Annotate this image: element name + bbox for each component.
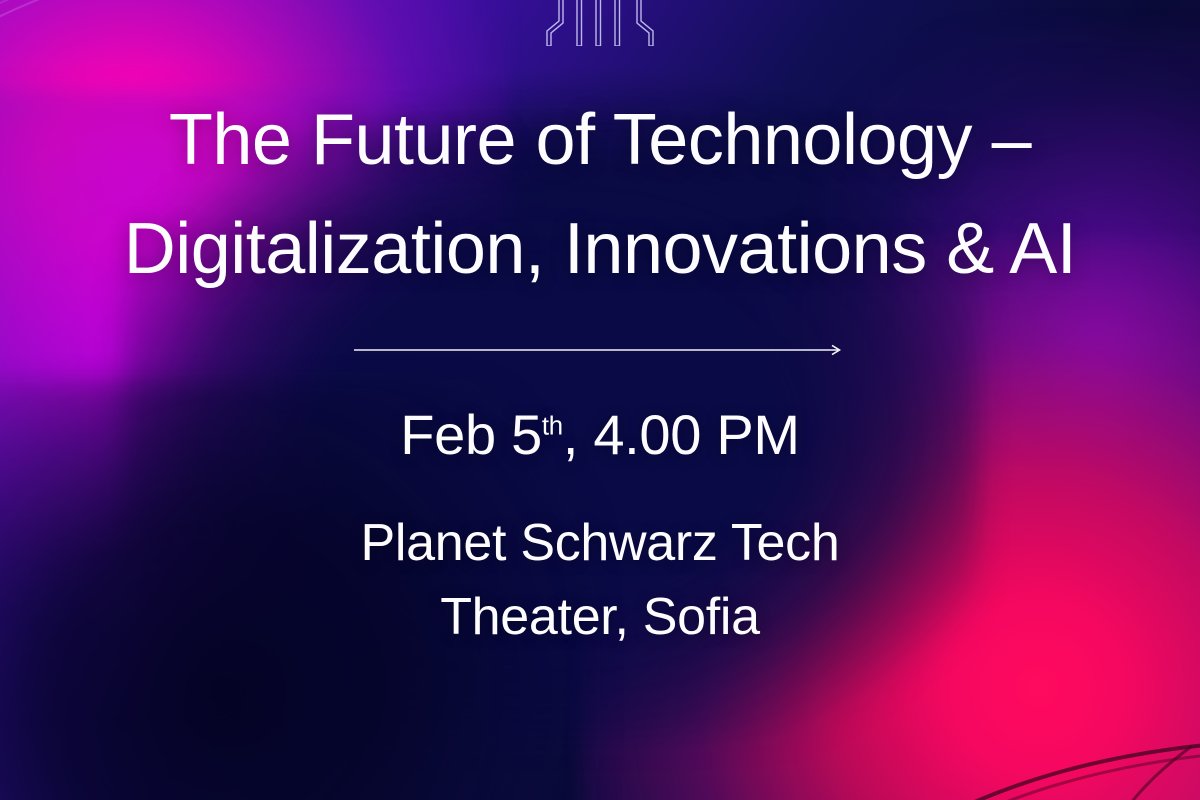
- venue-line-2: Theater, Sofia: [361, 581, 840, 655]
- right-arrow-divider-icon: [354, 343, 846, 357]
- event-date-prefix: Feb 5: [400, 403, 542, 466]
- page-title: The Future of Technology – Digitalizatio…: [124, 86, 1077, 305]
- event-venue: Planet Schwarz Tech Theater, Sofia: [361, 507, 840, 655]
- title-line-1: The Future of Technology –: [124, 86, 1077, 195]
- event-time: , 4.00 PM: [563, 403, 800, 466]
- event-datetime: Feb 5th, 4.00 PM: [400, 402, 800, 467]
- poster-content: The Future of Technology – Digitalizatio…: [0, 0, 1200, 800]
- event-date-ordinal: th: [542, 412, 563, 440]
- title-line-2: Digitalization, Innovations & AI: [124, 195, 1077, 304]
- venue-line-1: Planet Schwarz Tech: [361, 507, 840, 581]
- event-poster: The Future of Technology – Digitalizatio…: [0, 0, 1200, 800]
